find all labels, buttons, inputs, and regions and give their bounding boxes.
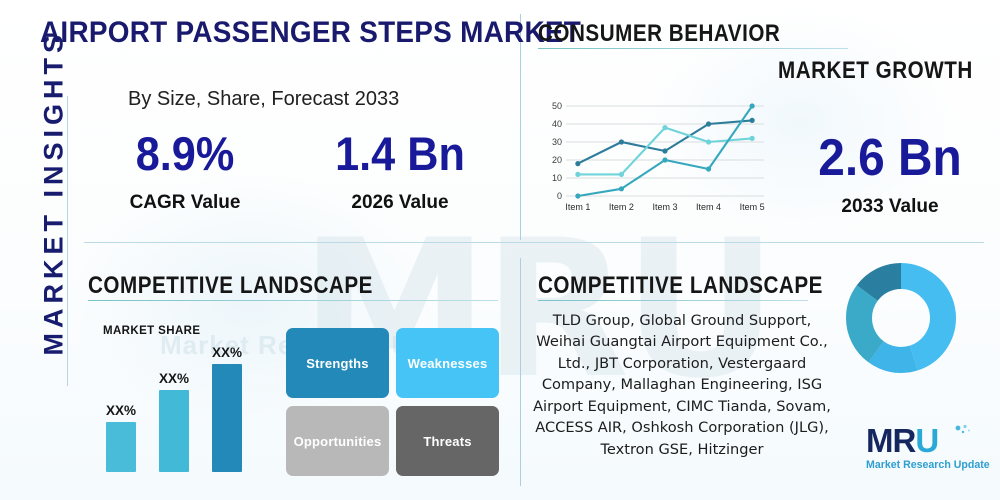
market-share-bar-2: [159, 390, 189, 472]
svg-text:30: 30: [552, 137, 562, 147]
kpi-cagr-value: 8.9%: [107, 126, 263, 181]
kpi-2026-label: 2026 Value: [310, 192, 490, 214]
swot-box-opportunities[interactable]: Opportunities: [286, 406, 389, 476]
svg-text:Item 2: Item 2: [609, 202, 634, 212]
logo-text-mr: MR: [866, 422, 915, 459]
kpi-2033-value: 2.6 Bn: [807, 128, 973, 188]
competitive-landscape-donut-chart: [845, 262, 957, 379]
consumer-behavior-line-chart: 01020304050Item 1Item 2Item 3Item 4Item …: [540, 100, 770, 218]
line-chart-svg: 01020304050Item 1Item 2Item 3Item 4Item …: [540, 100, 770, 218]
kpi-cagr-label: CAGR Value: [100, 192, 270, 214]
market-share-bar-chart: XX%XX%XX%: [100, 340, 260, 472]
market-share-bar-label-2: XX%: [153, 371, 195, 386]
mru-logo: MRU Market Research Update: [866, 424, 992, 480]
market-share-bar-3: [212, 364, 242, 472]
svg-text:Item 4: Item 4: [696, 202, 721, 212]
market-share-title: MARKET SHARE: [103, 325, 200, 337]
swot-label-opportunities: Opportunities: [294, 434, 382, 449]
svg-text:40: 40: [552, 119, 562, 129]
divider-horizontal: [84, 242, 984, 243]
page-title: AIRPORT PASSENGER STEPS MARKET: [40, 16, 581, 50]
svg-text:10: 10: [552, 173, 562, 183]
swot-label-strengths: Strengths: [306, 356, 368, 371]
swot-label-threats: Threats: [423, 434, 471, 449]
section-title-market-growth: MARKET GROWTH: [778, 57, 973, 85]
svg-text:Item 3: Item 3: [652, 202, 677, 212]
section-rule-consumer-behavior: [538, 48, 848, 49]
competitor-list: TLD Group, Global Ground Support, Weihai…: [532, 310, 832, 460]
kpi-2026-value: 1.4 Bn: [317, 126, 483, 181]
section-rule-competitive-landscape-left: [88, 300, 498, 301]
swot-box-strengths[interactable]: Strengths: [286, 328, 389, 398]
market-share-bar-label-3: XX%: [206, 345, 248, 360]
rail-market-insights: MARKET INSIGHTS: [39, 56, 70, 356]
logo-dots-icon: [952, 424, 974, 442]
swot-box-weaknesses[interactable]: Weaknesses: [396, 328, 499, 398]
market-share-bar-label-1: XX%: [100, 403, 142, 418]
donut-chart-svg: [845, 262, 957, 374]
market-share-bar-1: [106, 422, 136, 472]
section-rule-competitive-landscape-right: [538, 300, 808, 301]
svg-text:Item 1: Item 1: [565, 202, 590, 212]
section-title-competitive-landscape-left: COMPETITIVE LANDSCAPE: [88, 272, 373, 300]
page-subtitle: By Size, Share, Forecast 2033: [128, 88, 399, 111]
svg-text:20: 20: [552, 155, 562, 165]
svg-text:0: 0: [557, 191, 562, 201]
divider-vertical-bottom: [520, 258, 521, 486]
swot-label-weaknesses: Weaknesses: [408, 356, 488, 371]
section-title-competitive-landscape-right: COMPETITIVE LANDSCAPE: [538, 272, 823, 300]
infographic-canvas: MRU Market Research Update MARKET INSIGH…: [0, 0, 1000, 500]
logo-tagline: Market Research Update: [866, 459, 992, 471]
svg-text:50: 50: [552, 101, 562, 111]
swot-box-threats[interactable]: Threats: [396, 406, 499, 476]
rail-divider: [67, 96, 68, 386]
logo-text-u: U: [915, 422, 938, 459]
section-title-consumer-behavior: CONSUMER BEHAVIOR: [538, 20, 780, 48]
svg-text:Item 5: Item 5: [740, 202, 765, 212]
kpi-2033-label: 2033 Value: [800, 196, 980, 218]
